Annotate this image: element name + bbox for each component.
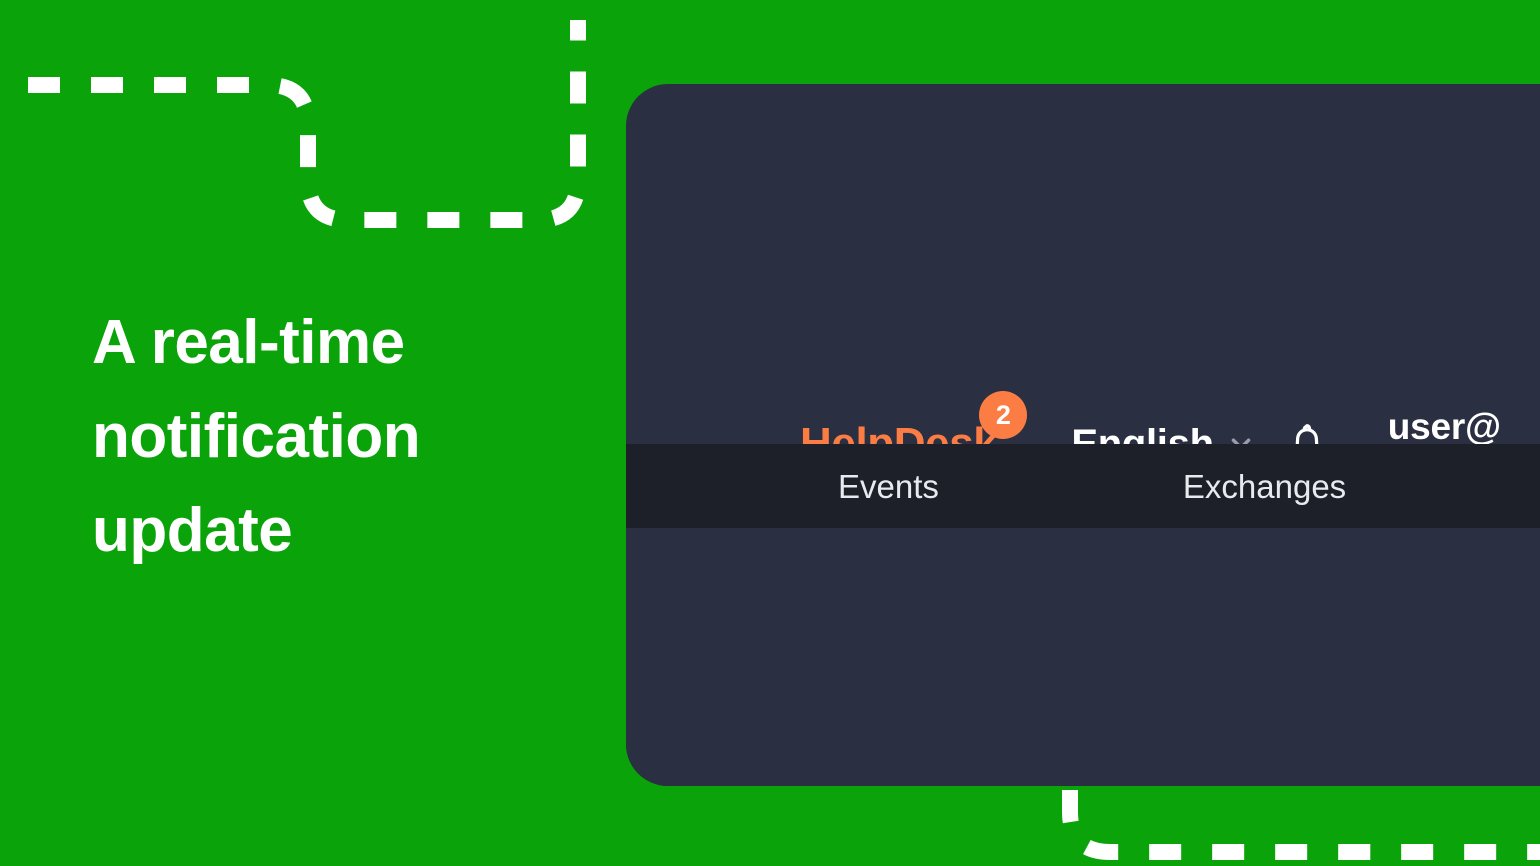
app-nav-tabs: Events Exchanges bbox=[626, 444, 1540, 528]
brand-notification-badge: 2 bbox=[979, 391, 1027, 439]
user-email: user@ bbox=[1388, 408, 1501, 447]
app-window-card: HelpDesk 2 English user@ Merchant Events… bbox=[626, 84, 1540, 786]
promo-headline: A real-time notification update bbox=[92, 296, 612, 578]
headline-line-2: notification bbox=[92, 390, 612, 484]
headline-line-3: update bbox=[92, 484, 612, 578]
tab-exchanges[interactable]: Exchanges bbox=[1183, 470, 1346, 503]
app-content-area bbox=[626, 528, 1540, 786]
headline-line-1: A real-time bbox=[92, 296, 612, 390]
tab-events[interactable]: Events bbox=[838, 470, 939, 503]
dashed-path-bottom-right bbox=[1070, 790, 1540, 852]
dashed-path-top-left bbox=[28, 20, 578, 220]
